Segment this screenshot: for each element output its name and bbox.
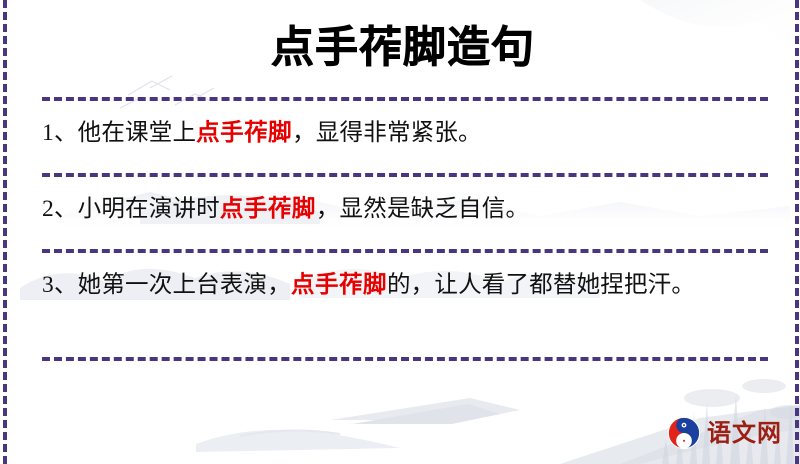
site-logo-text: 语文网	[707, 421, 782, 445]
sentence-before: 他在课堂上	[78, 120, 197, 146]
sentence-index: 3、	[42, 272, 78, 298]
document-page: 点手莋脚造句 1、他在课堂上点手莋脚，显得非常紧张。 2、小明在演讲时点手莋脚，…	[0, 0, 800, 464]
sentence-after: 的，让人看了都替她捏把汗。	[387, 272, 695, 298]
keyword-highlight: 点手莋脚	[220, 194, 316, 222]
document-content: 点手莋脚造句 1、他在课堂上点手莋脚，显得非常紧张。 2、小明在演讲时点手莋脚，…	[0, 0, 800, 464]
frame-border-right	[795, 0, 799, 464]
sentence-index: 1、	[42, 120, 78, 146]
keyword-highlight: 点手莋脚	[196, 118, 292, 146]
divider-bottom	[42, 357, 768, 361]
page-title: 点手莋脚造句	[271, 27, 535, 70]
sentence-after: ，显然是缺乏自信。	[316, 196, 529, 222]
frame-border-left	[3, 0, 7, 464]
sentence-after: ，显得非常紧张。	[292, 120, 482, 146]
site-logo[interactable]: 语文网	[667, 416, 782, 450]
sentence-index: 2、	[42, 196, 78, 222]
keyword-highlight: 点手莋脚	[291, 270, 387, 298]
sentence-before: 小明在演讲时	[78, 196, 220, 222]
yin-yang-logo-icon	[667, 416, 701, 450]
title-area: 点手莋脚造句	[28, 0, 778, 97]
list-item: 1、他在课堂上点手莋脚，显得非常紧张。	[28, 101, 778, 173]
list-item: 2、小明在演讲时点手莋脚，显然是缺乏自信。	[28, 177, 778, 249]
sentence-before: 她第一次上台表演，	[78, 272, 291, 298]
list-item: 3、她第一次上台表演，点手莋脚的，让人看了都替她捏把汗。	[28, 253, 778, 357]
